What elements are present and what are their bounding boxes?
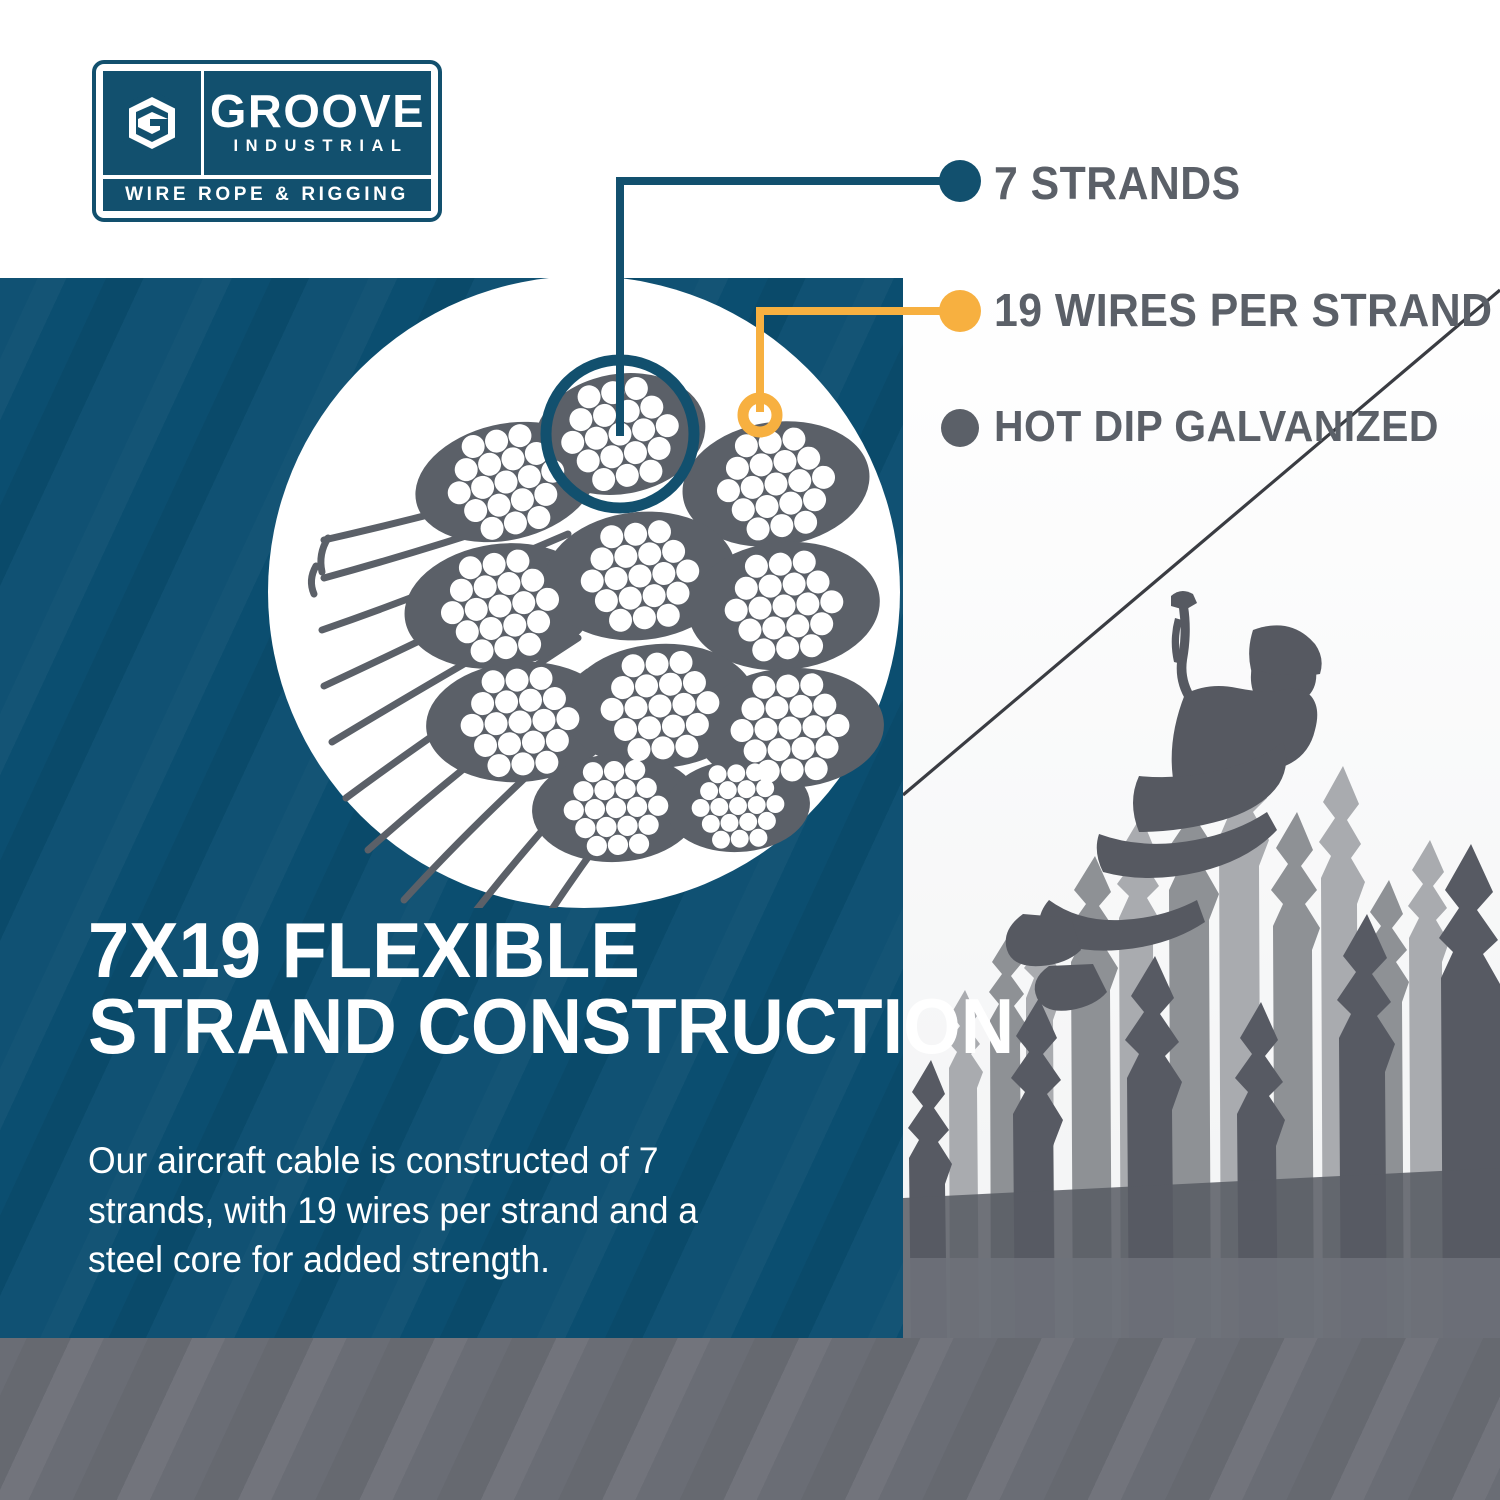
brand-logo[interactable]: GROOVE INDUSTRIAL WIRE ROPE & RIGGING bbox=[92, 60, 442, 222]
page-title-line2: STRAND CONSTRUCTION bbox=[88, 988, 839, 1064]
callout-dot-strands bbox=[939, 160, 981, 202]
brand-name-line2: INDUSTRIAL bbox=[227, 137, 409, 156]
groove-g-mark-icon bbox=[103, 71, 201, 175]
callout-label-wires: 19 WIRES PER STRAND bbox=[994, 283, 1493, 337]
brand-tagline: WIRE ROPE & RIGGING bbox=[125, 184, 409, 206]
page-title: 7X19 FLEXIBLE STRAND CONSTRUCTION bbox=[88, 912, 839, 1065]
bottom-grey-band bbox=[0, 1338, 1500, 1500]
body-description: Our aircraft cable is constructed of 7 s… bbox=[88, 1136, 750, 1285]
brand-name-line1: GROOVE bbox=[210, 90, 425, 134]
infographic-canvas: 7 STRANDS 19 WIRES PER STRAND HOT DIP GA… bbox=[0, 0, 1500, 1500]
callout-label-galvanized: HOT DIP GALVANIZED bbox=[994, 402, 1439, 452]
band-stripe-texture bbox=[0, 1338, 1500, 1500]
page-title-line1: 7X19 FLEXIBLE bbox=[88, 912, 839, 988]
leader-line-wires bbox=[760, 311, 945, 412]
callout-dot-wires bbox=[939, 290, 981, 332]
callout-dot-galvanized bbox=[941, 409, 979, 447]
callout-label-strands: 7 STRANDS bbox=[994, 156, 1241, 210]
